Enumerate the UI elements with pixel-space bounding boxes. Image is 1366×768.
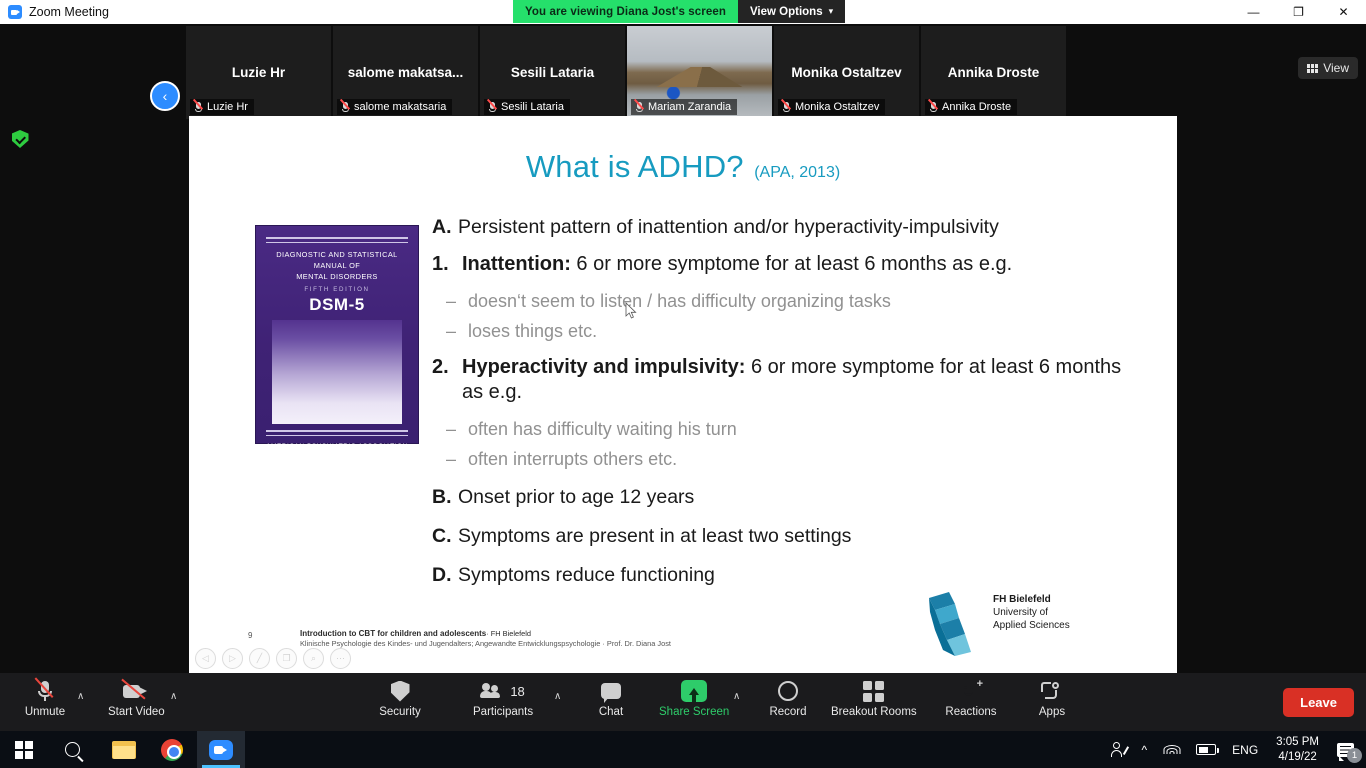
tile-display-name: Sesili Lataria — [480, 65, 625, 80]
window-title: Zoom Meeting — [29, 5, 109, 19]
mouse-cursor — [625, 302, 637, 320]
all-slides-icon[interactable]: ❐ — [276, 648, 297, 669]
slide-title-main: What is ADHD? — [526, 149, 744, 184]
chat-icon — [601, 679, 621, 703]
title-bar-left: Zoom Meeting — [0, 5, 109, 19]
chat-button[interactable]: Chat — [584, 679, 638, 718]
book-line-2: MANUAL OF — [263, 261, 411, 271]
tile-badge-label: Sesili Lataria — [501, 101, 564, 113]
chrome-icon — [161, 739, 183, 761]
book-acronym: DSM-5 — [263, 295, 411, 315]
participants-label: Participants — [473, 706, 533, 718]
tile-display-name: Annika Droste — [921, 65, 1066, 80]
tile-badge-label: Mariam Zarandia — [648, 101, 731, 113]
tile-badge-label: salome makatsaria — [354, 101, 446, 113]
bullet-text: Symptoms reduce functioning — [458, 563, 715, 588]
video-tiles-container: Luzie Hr Luzie Hr salome makatsa... salo… — [186, 26, 1068, 119]
dsm5-book-image: DIAGNOSTIC AND STATISTICAL MANUAL OF MEN… — [255, 225, 419, 444]
subbullet-marker: – — [432, 448, 468, 471]
network-button[interactable] — [1155, 731, 1188, 768]
security-label: Security — [379, 706, 421, 718]
grid-view-icon — [1307, 64, 1318, 73]
bullet-1-inattention: 1. Inattention: 6 or more symptome for a… — [432, 252, 1144, 278]
mic-muted-icon — [341, 101, 350, 113]
clock-button[interactable]: 3:05 PM 4/19/22 — [1266, 735, 1329, 764]
reactions-button[interactable]: + Reactions — [944, 679, 998, 718]
bullet-text: Onset prior to age 12 years — [458, 485, 694, 510]
start-button[interactable] — [0, 731, 48, 768]
bullet-text: 6 or more symptome for at least 6 months… — [571, 253, 1012, 275]
book-rule-top2 — [266, 242, 408, 243]
chevron-up-icon: ^ — [1142, 743, 1148, 757]
bullet-bold-lead: Hyperactivity and impulsivity: — [462, 356, 745, 378]
chat-label: Chat — [599, 706, 623, 718]
fh-logo-line-2: University of — [993, 607, 1070, 620]
subbullet-text: loses things etc. — [468, 320, 597, 343]
subbullet-marker: – — [432, 320, 468, 343]
zoom-app-icon — [209, 740, 233, 760]
wifi-icon — [1163, 743, 1180, 756]
leave-button[interactable]: Leave — [1283, 688, 1354, 717]
book-publisher: AMERICAN PSYCHIATRIC ASSOCIATION — [263, 443, 411, 450]
share-screen-icon — [681, 679, 707, 703]
maximize-button[interactable]: ❐ — [1276, 0, 1321, 24]
bullet-text: Persistent pattern of inattention and/or… — [458, 215, 999, 240]
apps-icon — [1041, 679, 1063, 703]
bullet-body: Hyperactivity and impulsivity: 6 or more… — [462, 355, 1144, 406]
folder-icon — [112, 741, 136, 759]
tile-name-badge: Annika Droste — [925, 99, 1017, 115]
subbullet-text: doesn‘t seem to listen / has difficulty … — [468, 290, 891, 313]
book-rule-top — [266, 237, 408, 239]
clock-date: 4/19/22 — [1276, 750, 1319, 765]
subbullet-1b: – loses things etc. — [432, 320, 1144, 343]
clock-time: 3:05 PM — [1276, 735, 1319, 750]
tile-name-badge: Mariam Zarandia — [631, 99, 737, 115]
bullet-c: C. Symptoms are present in at least two … — [432, 524, 1144, 549]
book-edition: FIFTH EDITION — [263, 286, 411, 293]
zoom-tool-icon[interactable]: ⌕ — [303, 648, 324, 669]
slide-footer-text: Introduction to CBT for children and ado… — [300, 628, 808, 650]
tile-badge-label: Monika Ostaltzev — [795, 101, 879, 113]
more-options-icon[interactable]: ⋯ — [330, 648, 351, 669]
subbullet-text: often interrupts others etc. — [468, 448, 677, 471]
video-tile-luzie-hr[interactable]: Luzie Hr Luzie Hr — [186, 26, 333, 119]
record-label: Record — [769, 706, 806, 718]
meeting-secure-icon — [10, 129, 30, 149]
bullet-marker: 2. — [432, 355, 462, 406]
bullet-d: D. Symptoms reduce functioning — [432, 563, 1144, 588]
reactions-label: Reactions — [945, 706, 996, 718]
participant-video-strip: ‹ Luzie Hr Luzie Hr salome makatsa... sa… — [0, 24, 1366, 119]
shield-check-icon — [12, 130, 29, 148]
viewing-banner-label: You are viewing Diana Jost's screen — [513, 0, 738, 23]
tile-name-badge: Luzie Hr — [190, 99, 254, 115]
tile-display-name: salome makatsa... — [333, 65, 478, 80]
apps-label: Apps — [1039, 706, 1065, 718]
fh-logo-text: FH Bielefeld University of Applied Scien… — [993, 594, 1070, 632]
language-button[interactable]: ENG — [1224, 731, 1266, 768]
shared-screen-content: What is ADHD? (APA, 2013) DIAGNOSTIC AND… — [189, 116, 1177, 673]
file-explorer-button[interactable] — [100, 731, 148, 768]
fh-logo-mark-icon — [925, 590, 985, 656]
subbullet-marker: – — [432, 418, 468, 441]
record-button[interactable]: Record — [761, 679, 815, 718]
book-rule-bottom — [266, 430, 408, 432]
book-gradient-panel — [272, 320, 402, 424]
close-button[interactable]: ✕ — [1321, 0, 1366, 24]
bullet-a: A. Persistent pattern of inattention and… — [432, 215, 1144, 240]
subbullet-2b: – often interrupts others etc. — [432, 448, 1144, 471]
share-options-caret[interactable]: ∧ — [733, 691, 740, 702]
book-rule-bottom2 — [266, 435, 408, 436]
start-video-button[interactable]: Start Video — [108, 679, 165, 718]
footer-subtitle: Klinische Psychologie des Kindes- und Ju… — [300, 639, 808, 650]
chevron-down-icon: ▾ — [829, 6, 834, 17]
video-tile-sesili-lataria[interactable]: Sesili Lataria Sesili Lataria — [480, 26, 627, 119]
fh-bielefeld-logo: FH Bielefeld University of Applied Scien… — [925, 588, 1093, 658]
presenter-controls: ◁ ▷ ╱ ❐ ⌕ ⋯ — [195, 648, 351, 669]
mic-muted-icon — [488, 101, 497, 113]
bullet-text: Symptoms are present in at least two set… — [458, 524, 851, 549]
participants-button[interactable]: 18 Participants — [473, 679, 533, 718]
chrome-button[interactable] — [148, 731, 196, 768]
mute-button[interactable]: Unmute — [18, 679, 72, 718]
bullet-marker: D. — [432, 563, 458, 588]
pen-tool-icon[interactable]: ╱ — [249, 648, 270, 669]
mic-muted-icon — [194, 101, 203, 113]
mic-muted-icon — [635, 101, 644, 113]
subbullet-1a: – doesn‘t seem to listen / has difficult… — [432, 290, 1144, 313]
tile-display-name: Luzie Hr — [186, 65, 331, 80]
person-icon — [1111, 742, 1126, 757]
tile-name-badge: salome makatsaria — [337, 99, 452, 115]
view-options-label: View Options — [750, 6, 823, 18]
zoom-logo-icon — [8, 5, 22, 19]
book-line-1: DIAGNOSTIC AND STATISTICAL — [263, 250, 411, 260]
fh-logo-line-1: FH Bielefeld — [993, 594, 1070, 607]
breakout-rooms-label: Breakout Rooms — [831, 706, 917, 718]
video-tile-mariam-zarandia[interactable]: Mariam Zarandia — [627, 26, 774, 119]
slide-body-text: A. Persistent pattern of inattention and… — [432, 215, 1144, 594]
slide-title: What is ADHD? (APA, 2013) — [189, 149, 1177, 185]
windows-taskbar: ^ ENG 3:05 PM 4/19/22 1 — [0, 731, 1366, 768]
subbullet-2a: – often has difficulty waiting his turn — [432, 418, 1144, 441]
screen-share-indicator: You are viewing Diana Jost's screen View… — [513, 0, 845, 23]
bullet-b: B. Onset prior to age 12 years — [432, 485, 1144, 510]
footer-title-suffix: · FH Bielefeld — [486, 629, 531, 638]
slide-page-number: 9 — [248, 630, 252, 642]
audio-options-caret[interactable]: ∧ — [77, 691, 84, 702]
microphone-muted-icon — [36, 679, 54, 703]
view-options-button[interactable]: View Options ▾ — [738, 0, 845, 23]
view-chip-label: View — [1323, 61, 1349, 75]
notifications-button[interactable]: 1 — [1329, 731, 1366, 768]
bullet-2-hyperactivity: 2. Hyperactivity and impulsivity: 6 or m… — [432, 355, 1144, 406]
show-hidden-icons-button[interactable]: ^ — [1134, 731, 1156, 768]
search-icon — [65, 742, 80, 757]
breakout-rooms-icon — [863, 679, 884, 703]
video-tile-monika-ostaltzev[interactable]: Monika Ostaltzev Monika Ostaltzev — [774, 26, 921, 119]
mute-button-label: Unmute — [25, 706, 65, 718]
camera-off-icon — [123, 679, 149, 703]
notification-count-badge: 1 — [1347, 748, 1362, 763]
bullet-body: Inattention: 6 or more symptome for at l… — [462, 252, 1012, 278]
tile-badge-label: Annika Droste — [942, 101, 1011, 113]
breakout-rooms-button[interactable]: Breakout Rooms — [831, 679, 917, 718]
start-video-label: Start Video — [108, 706, 165, 718]
bullet-bold-lead: Inattention: — [462, 253, 571, 275]
security-button[interactable]: Security — [373, 679, 427, 718]
meet-now-button[interactable] — [1103, 731, 1134, 768]
participants-caret[interactable]: ∧ — [554, 691, 561, 702]
bullet-marker: 1. — [432, 252, 462, 278]
shield-icon — [391, 679, 410, 703]
slide-footer: 9 Introduction to CBT for children and a… — [248, 628, 808, 650]
subbullet-marker: – — [432, 290, 468, 313]
battery-button[interactable] — [1188, 731, 1224, 768]
participants-icon: 18 — [481, 679, 524, 703]
window-title-bar: Zoom Meeting You are viewing Diana Jost'… — [0, 0, 1366, 24]
slide-title-citation: (APA, 2013) — [754, 164, 840, 181]
video-tile-salome-makatsaria[interactable]: salome makatsa... salome makatsaria — [333, 26, 480, 119]
video-tile-annika-droste[interactable]: Annika Droste Annika Droste — [921, 26, 1068, 119]
mic-muted-icon — [929, 101, 938, 113]
bullet-marker: B. — [432, 485, 458, 510]
bullet-marker: C. — [432, 524, 458, 549]
tile-name-badge: Sesili Lataria — [484, 99, 570, 115]
next-slide-button[interactable]: ▷ — [222, 648, 243, 669]
tile-display-name: Monika Ostaltzev — [774, 65, 919, 80]
search-button[interactable] — [48, 731, 96, 768]
battery-icon — [1196, 744, 1216, 755]
view-layout-button[interactable]: View — [1298, 57, 1358, 79]
apps-button[interactable]: Apps — [1025, 679, 1079, 718]
scroll-left-button[interactable]: ‹ — [150, 81, 180, 111]
reactions-icon: + — [960, 679, 982, 703]
language-label: ENG — [1232, 743, 1258, 757]
participants-count: 18 — [510, 684, 524, 699]
zoom-meeting-toolbar: Unmute ∧ Start Video ∧ Security 18 Parti… — [0, 673, 1366, 731]
bullet-marker: A. — [432, 215, 458, 240]
book-line-3: MENTAL DISORDERS — [263, 272, 411, 282]
fh-logo-line-3: Applied Sciences — [993, 620, 1070, 633]
share-screen-button[interactable]: Share Screen — [659, 679, 729, 718]
footer-title: Introduction to CBT for children and ado… — [300, 629, 486, 638]
footer-title-line: Introduction to CBT for children and ado… — [300, 628, 808, 640]
minimize-button[interactable]: — — [1231, 0, 1276, 24]
record-icon — [778, 679, 798, 703]
previous-slide-button[interactable]: ◁ — [195, 648, 216, 669]
tile-badge-label: Luzie Hr — [207, 101, 248, 113]
windows-logo-icon — [15, 741, 33, 759]
subbullet-text: often has difficulty waiting his turn — [468, 418, 737, 441]
window-controls: — ❐ ✕ — [1231, 0, 1366, 24]
share-screen-label: Share Screen — [659, 706, 729, 718]
zoom-taskbar-button[interactable] — [197, 731, 245, 768]
system-tray: ^ ENG 3:05 PM 4/19/22 1 — [1103, 731, 1366, 768]
tile-name-badge: Monika Ostaltzev — [778, 99, 885, 115]
video-options-caret[interactable]: ∧ — [170, 691, 177, 702]
mic-muted-icon — [782, 101, 791, 113]
